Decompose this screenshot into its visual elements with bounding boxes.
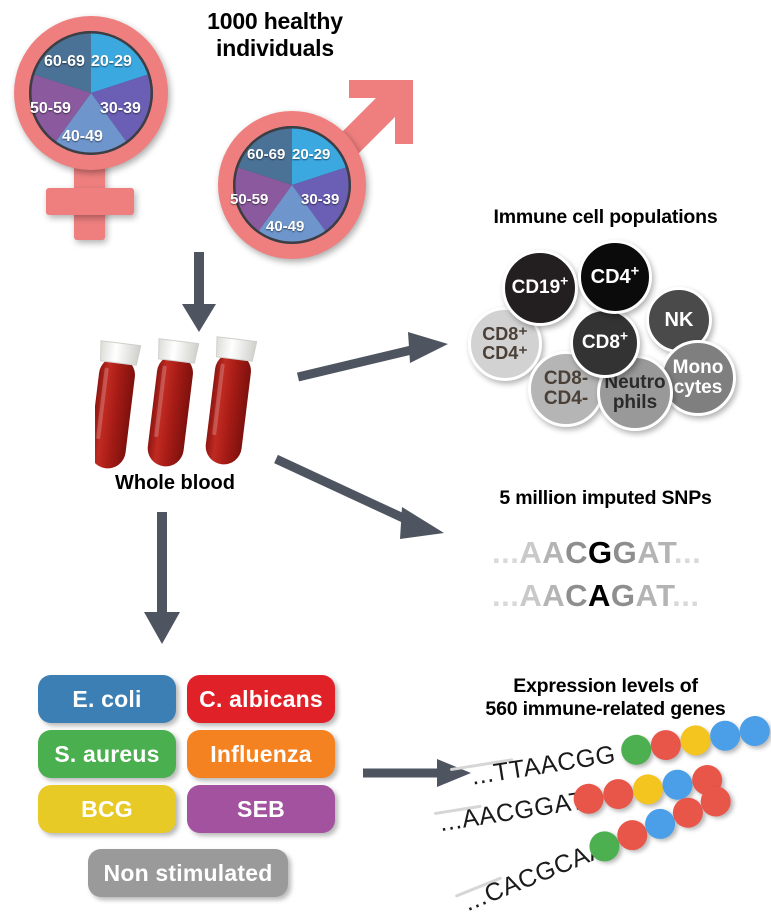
cell-cd8-text: CD8+ (582, 333, 628, 353)
cell-cd8-superscript: + (620, 328, 628, 344)
snp-seq1-base-a1: A (519, 535, 542, 570)
cell-nk-label: NK (665, 310, 694, 331)
snp-seq1-leading-dots: ... (492, 535, 519, 570)
cell-monocytes: Mono cytes (660, 340, 736, 416)
cell-cd4-label: CD4 (591, 266, 631, 288)
cell-cd8cd4neg-label: CD8- CD4- (544, 369, 588, 409)
stimulation-influenza[interactable]: Influenza (187, 730, 335, 778)
stimulation-e-coli-label: E. coli (72, 686, 141, 713)
snp-seq2-base-a2: A (542, 578, 565, 613)
snp-seq1-trailing-dots: ... (674, 535, 701, 570)
study-design-figure: 1000 healthy individuals 20-29 30-39 40-… (0, 0, 771, 922)
snp-seq2-trailing-dots: ... (672, 578, 699, 613)
expression-strand-2-sequence: ...AACGGAT (437, 787, 587, 839)
snp-seq2-base-g: G (611, 578, 636, 613)
snp-seq1-base-t: T (658, 535, 674, 570)
stimulation-c-albicans-label: C. albicans (199, 686, 323, 713)
cell-cd8-label: CD8 (582, 332, 620, 353)
snp-seq1-variant: G (588, 535, 613, 570)
snp-seq1-base-a3: A (637, 535, 658, 570)
snp-seq2-base-c: C (565, 578, 588, 613)
stimulation-non-stimulated[interactable]: Non stimulated (88, 849, 288, 897)
stimulation-bcg[interactable]: BCG (38, 785, 176, 833)
cell-cd4-text: CD4+ (591, 267, 640, 288)
snp-sequence-allele-1: ...AACGGAT... (492, 535, 701, 571)
snp-seq2-base-a3: A (636, 578, 657, 613)
expression-strand-1-bead-2-red (649, 728, 683, 762)
cell-cd19-text: CD19+ (512, 278, 569, 298)
expression-strand-2-bead-1-red (571, 782, 605, 816)
stimulation-c-albicans[interactable]: C. albicans (187, 675, 335, 723)
stimulation-non-stimulated-label: Non stimulated (104, 860, 273, 887)
cell-cd19-label: CD19 (512, 277, 561, 298)
cell-cd19: CD19+ (502, 250, 578, 326)
snp-sequence-allele-2: ...AACAGAT... (492, 578, 699, 614)
stimulations-group: E. coliC. albicansS. aureusInfluenzaBCGS… (0, 0, 400, 922)
cell-cd8cd4pos-label: CD8⁺ CD4⁺ (482, 325, 528, 362)
cell-cd4: CD4+ (578, 240, 652, 314)
snp-seq2-base-a1: A (519, 578, 542, 613)
snp-seq2-base-t: T (656, 578, 672, 613)
stimulation-influenza-label: Influenza (210, 741, 311, 768)
stimulation-e-coli[interactable]: E. coli (38, 675, 176, 723)
snps-section-title: 5 million imputed SNPs (440, 487, 771, 510)
expression-strand-1-bead-4-blue (708, 719, 742, 753)
stimulation-s-aureus-label: S. aureus (54, 741, 159, 768)
expression-strand-3-sequence: ...CACGCAA (460, 835, 610, 918)
cell-cd19-superscript: + (560, 273, 568, 289)
expression-strand-1-beads (619, 712, 771, 773)
expression-strand-1-bead-1-green (619, 733, 653, 767)
stimulation-bcg-label: BCG (81, 796, 133, 823)
expression-section-title: Expression levels of 560 immune-related … (440, 675, 771, 721)
stimulation-s-aureus[interactable]: S. aureus (38, 730, 176, 778)
expression-title-line-2: 560 immune-related genes (440, 698, 771, 721)
expression-strands-group: ...TTAACGG ...AACGGAT ...CACGCAA (440, 740, 771, 922)
expression-strand-1-bead-5-blue (738, 714, 771, 748)
snp-seq1-base-a2: A (542, 535, 565, 570)
snp-seq2-leading-dots: ... (492, 578, 519, 613)
snp-seq2-variant: A (588, 578, 611, 613)
expression-strand-2-bead-3-yellow (631, 772, 665, 806)
cell-cd8: CD8+ (570, 308, 640, 378)
cell-cd4-superscript: + (631, 263, 640, 279)
snp-seq1-base-c: C (565, 535, 588, 570)
stimulation-seb[interactable]: SEB (187, 785, 335, 833)
stimulation-seb-label: SEB (237, 796, 285, 823)
snp-seq1-base-g: G (613, 535, 638, 570)
expression-title-line-1: Expression levels of (440, 675, 771, 698)
expression-strand-1-bead-3-yellow (678, 723, 712, 757)
cell-monocytes-label: Mono cytes (673, 358, 724, 398)
expression-strand-2-bead-2-red (601, 777, 635, 811)
cell-neutrophils-label: Neutro phils (604, 373, 665, 413)
